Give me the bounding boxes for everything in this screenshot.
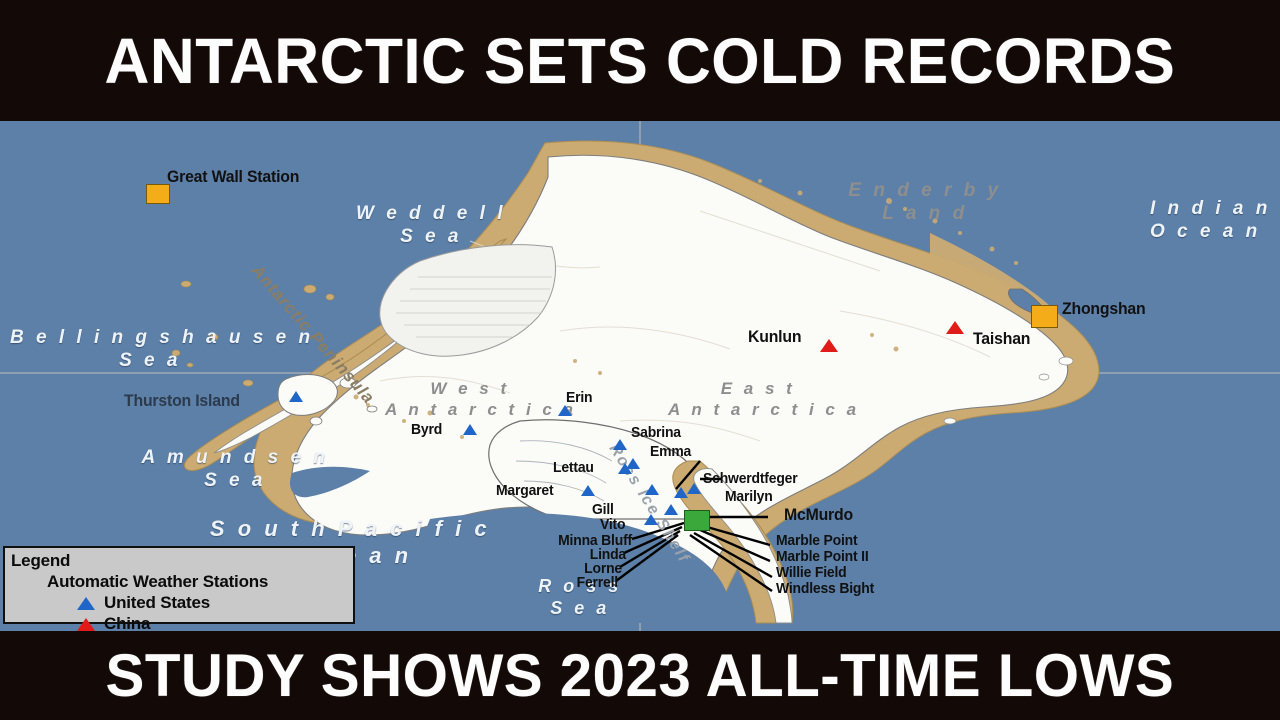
label-weddell-sea: W e d d e l lS e a: [336, 202, 526, 248]
label-thurston-island: Thurston Island: [124, 391, 240, 411]
schwerdtfeger-marker[interactable]: [674, 487, 688, 498]
unlabeled-station-marker[interactable]: [664, 504, 678, 515]
margaret-marker[interactable]: [581, 485, 595, 496]
label-sabrina: Sabrina: [631, 424, 681, 441]
label-marble-point-ii: Marble Point II: [776, 548, 869, 565]
legend-box: Legend Automatic Weather Stations United…: [3, 546, 355, 624]
headline-banner-top: ANTARCTIC SETS COLD RECORDS: [0, 0, 1280, 121]
lettau-marker[interactable]: [618, 463, 632, 474]
label-windless-bight: Windless Bight: [776, 580, 874, 597]
erin-marker[interactable]: [558, 405, 572, 416]
triangle-blue-icon: [77, 597, 95, 610]
label-erin: Erin: [566, 389, 592, 406]
label-byrd: Byrd: [411, 421, 442, 438]
label-willie-field: Willie Field: [776, 564, 847, 581]
taishan-marker[interactable]: [946, 321, 964, 334]
label-margaret: Margaret: [496, 482, 553, 499]
label-great-wall-station: Great Wall Station: [167, 167, 299, 187]
label-mcmurdo: McMurdo: [784, 505, 853, 525]
gill-marker[interactable]: [645, 484, 659, 495]
byrd-marker[interactable]: [463, 424, 477, 435]
vito-marker[interactable]: [644, 514, 658, 525]
label-marilyn: Marilyn: [725, 488, 773, 505]
label-schwerdtfeger: Schwerdtfeger: [703, 470, 797, 487]
sabrina-marker[interactable]: [613, 439, 627, 450]
label-bellingshausen-sea: B e l l i n g s h a u s e nS e a: [10, 326, 290, 372]
legend-title: Legend: [11, 551, 347, 571]
triangle-red-icon: [77, 618, 95, 631]
zhongshan-marker[interactable]: [1031, 305, 1058, 328]
headline-top-text: ANTARCTIC SETS COLD RECORDS: [105, 29, 1176, 93]
screenshot-root: ANTARCTIC SETS COLD RECORDS: [0, 0, 1280, 720]
mcmurdo-marker[interactable]: [684, 510, 710, 531]
legend-entry-china: China: [77, 614, 347, 631]
legend-label-china: China: [104, 614, 150, 631]
label-zhongshan: Zhongshan: [1062, 299, 1146, 319]
label-west-antarctica: W e s tA n t a r c t i c a: [385, 379, 555, 420]
label-indian-ocean: I n d i a nO c e a n: [1150, 197, 1280, 243]
label-marble-point: Marble Point: [776, 532, 857, 549]
headline-bottom-text: STUDY SHOWS 2023 ALL-TIME LOWS: [106, 644, 1175, 708]
label-kunlun: Kunlun: [748, 327, 801, 347]
marilyn-marker[interactable]: [687, 483, 701, 494]
legend-subtitle: Automatic Weather Stations: [47, 572, 347, 592]
label-ferrell: Ferrell: [527, 574, 618, 591]
label-enderby-land: E n d e r b yL a n d: [845, 179, 1005, 225]
legend-label-united-states: United States: [104, 593, 210, 613]
label-vito: Vito: [600, 516, 625, 533]
kunlun-marker[interactable]: [820, 339, 838, 352]
label-taishan: Taishan: [973, 329, 1030, 349]
thurston-island-marker[interactable]: [289, 391, 303, 402]
label-east-antarctica: E a s tA n t a r c t i c a: [668, 379, 848, 420]
label-amundsen-sea: A m u n d s e nS e a: [130, 446, 340, 492]
headline-banner-bottom: STUDY SHOWS 2023 ALL-TIME LOWS: [0, 631, 1280, 720]
label-lettau: Lettau: [553, 459, 594, 476]
legend-entry-united-states: United States: [77, 593, 347, 613]
label-emma: Emma: [650, 443, 691, 460]
great-wall-station-marker[interactable]: [146, 184, 170, 204]
antarctica-map: W e d d e l lS e a B e l l i n g s h a u…: [0, 121, 1280, 631]
